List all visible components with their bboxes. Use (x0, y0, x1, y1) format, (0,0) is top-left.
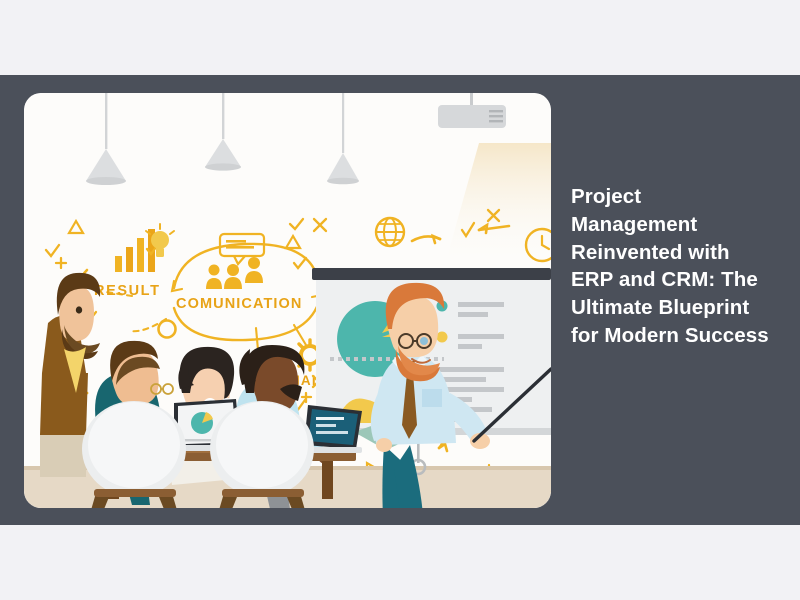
legend-dot (437, 332, 448, 343)
page-root: RESULT COMUNICATION (0, 0, 800, 600)
doodle-label-result: RESULT (94, 283, 161, 299)
chair (210, 401, 314, 508)
hero-illustration-card: RESULT COMUNICATION (24, 93, 551, 508)
chair (82, 401, 186, 508)
illustration-svg: RESULT COMUNICATION (24, 93, 551, 508)
doodle-label-comunication: COMUNICATION (176, 296, 303, 312)
page-title: Project Management Reinvented with ERP a… (571, 183, 771, 350)
